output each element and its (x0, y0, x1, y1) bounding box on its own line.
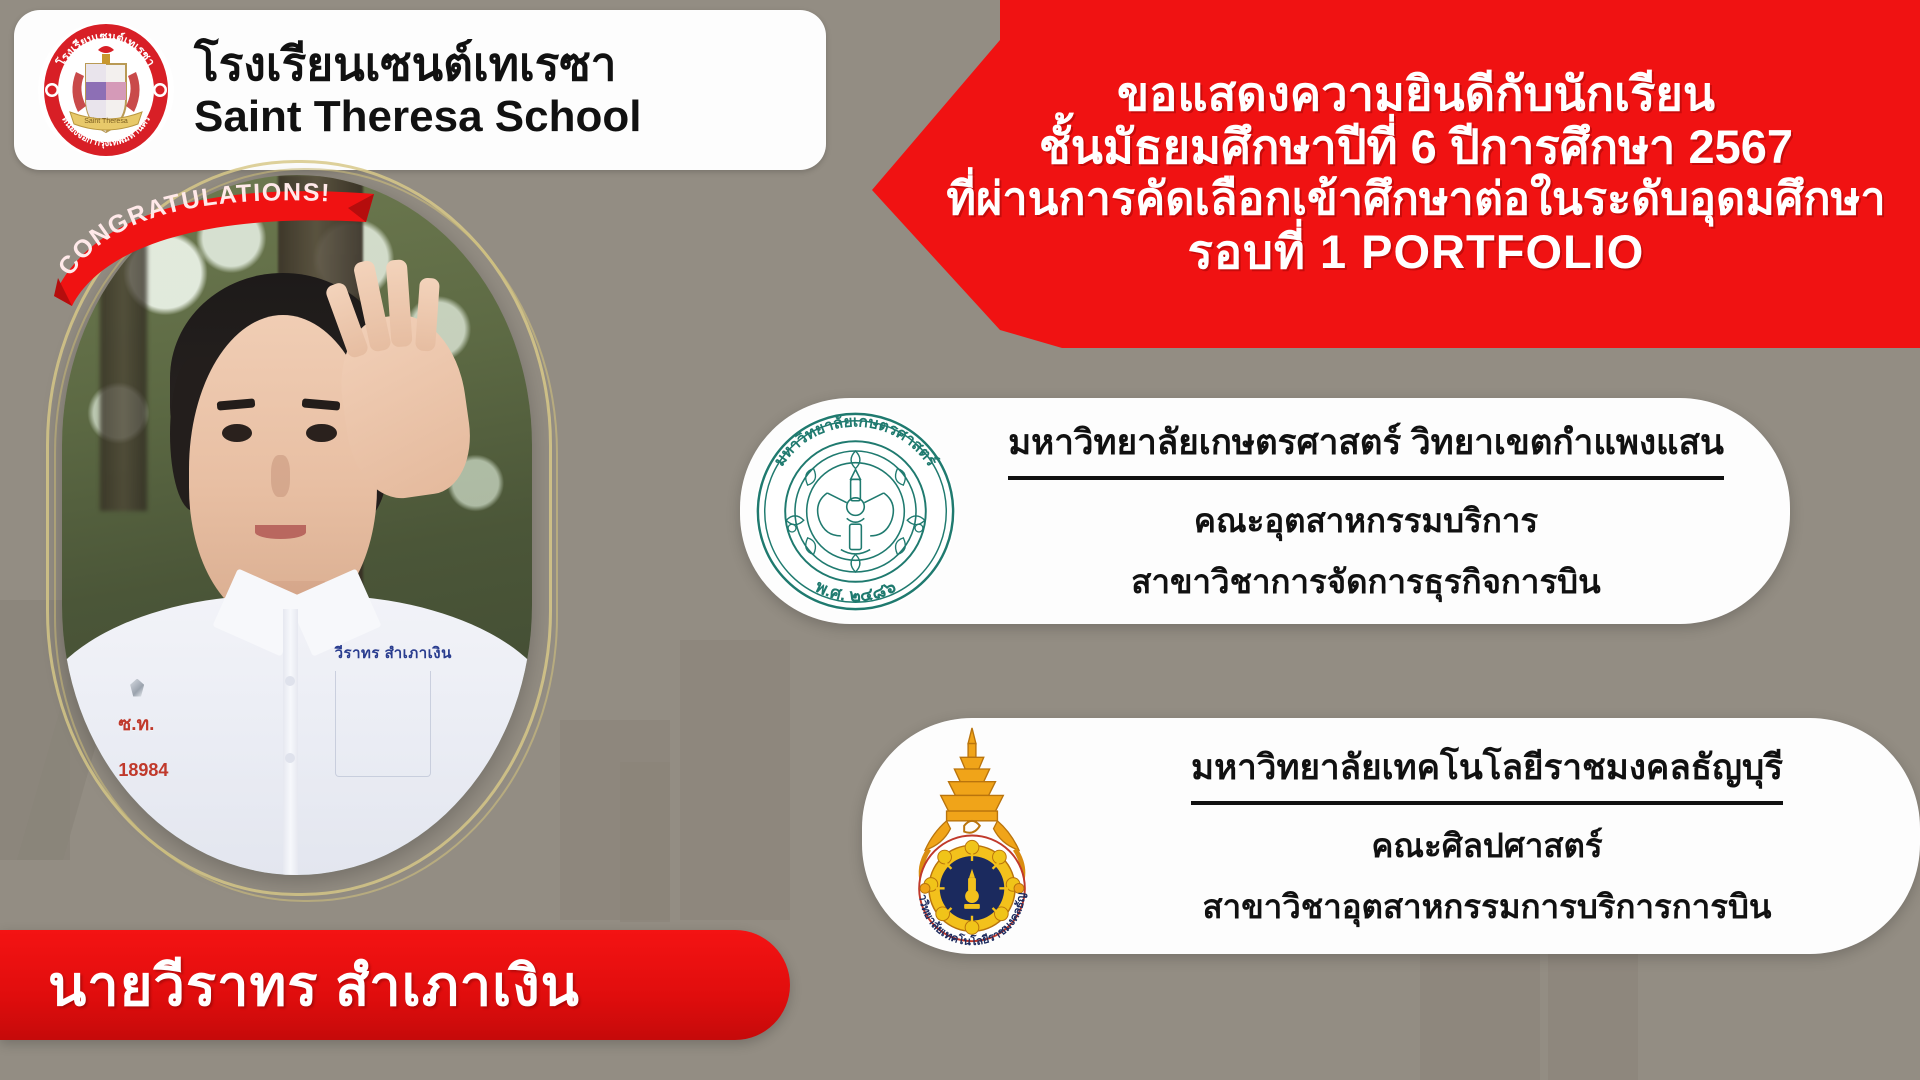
watermark-building-5 (680, 640, 790, 920)
school-header: Saint Theresa โรงเรียนเซนต์เทเรซา หนองจอ… (14, 10, 826, 170)
university-1-text: มหาวิทยาลัยเกษตรศาสตร์ วิทยาเขตกำแพงแสน … (970, 415, 1790, 608)
university-2-faculty: คณะศิลปศาสตร์ (1371, 819, 1602, 872)
student-name-banner: นายวีราทร สำเภาเงิน (0, 930, 790, 1040)
student-name: นายวีราทร สำเภาเงิน (48, 941, 580, 1030)
university-card-2[interactable]: มหาวิทยาลัยเทคโนโลยีราชมงคลธัญบุรี มหาวิ… (862, 718, 1920, 954)
university-2-major: สาขาวิชาอุตสาหกรรมการบริการการบิน (1203, 880, 1772, 933)
university-2-title: มหาวิทยาลัยเทคโนโลยีราชมงคลธัญบุรี (1191, 740, 1783, 805)
university-1-major: สาขาวิชาการจัดการธุรกิจการบิน (1131, 555, 1600, 608)
poster-canvas: Saint Theresa โรงเรียนเซนต์เทเรซา หนองจอ… (0, 0, 1920, 1080)
university-1-title: มหาวิทยาลัยเกษตรศาสตร์ วิทยาเขตกำแพงแสน (1008, 415, 1724, 480)
watermark-building-4 (620, 762, 670, 922)
rmutt-emblem-icon: มหาวิทยาลัยเทคโนโลยีราชมงคลธัญบุรี (862, 724, 1082, 949)
school-crest-icon: Saint Theresa โรงเรียนเซนต์เทเรซา หนองจอ… (36, 20, 176, 160)
university-1-faculty: คณะอุตสาหกรรมบริการ (1194, 494, 1538, 547)
headline-line-1: ขอแสดงความยินดีกับนักเรียน (1117, 68, 1715, 121)
uniform-badge-label: ซ.ท. (118, 715, 154, 735)
school-name-th: โรงเรียนเซนต์เทเรซา (194, 40, 641, 88)
headline-banner-text: ขอแสดงความยินดีกับนักเรียน ชั้นมัธยมศึกษ… (742, 0, 1920, 348)
kasetsart-university-seal-icon: มหาวิทยาลัยเกษตรศาสตร์ พ.ศ. ๒๔๘๖ (740, 409, 970, 614)
headline-line-4: รอบที่ 1 PORTFOLIO (1188, 224, 1645, 279)
svg-text:Saint Theresa: Saint Theresa (84, 118, 128, 125)
headline-line-2: ชั้นมัธยมศึกษาปีที่ 6 ปีการศึกษา 2567 (1039, 121, 1793, 174)
uniform-embroidered-name: วีราทร สำเภาเงิน (335, 641, 452, 665)
university-card-1[interactable]: มหาวิทยาลัยเกษตรศาสตร์ พ.ศ. ๒๔๘๖ มหาวิทย… (740, 398, 1790, 624)
congratulations-ribbon: CONGRATULATIONS! (48, 178, 378, 306)
school-name-en: Saint Theresa School (194, 94, 641, 140)
school-name-block: โรงเรียนเซนต์เทเรซา Saint Theresa School (194, 40, 641, 140)
uniform-badge-number: 18984 (118, 760, 168, 781)
headline-line-3: ที่ผ่านการคัดเลือกเข้าศึกษาต่อในระดับอุด… (946, 174, 1885, 224)
university-2-text: มหาวิทยาลัยเทคโนโลยีราชมงคลธัญบุรี คณะศิ… (1082, 740, 1920, 933)
